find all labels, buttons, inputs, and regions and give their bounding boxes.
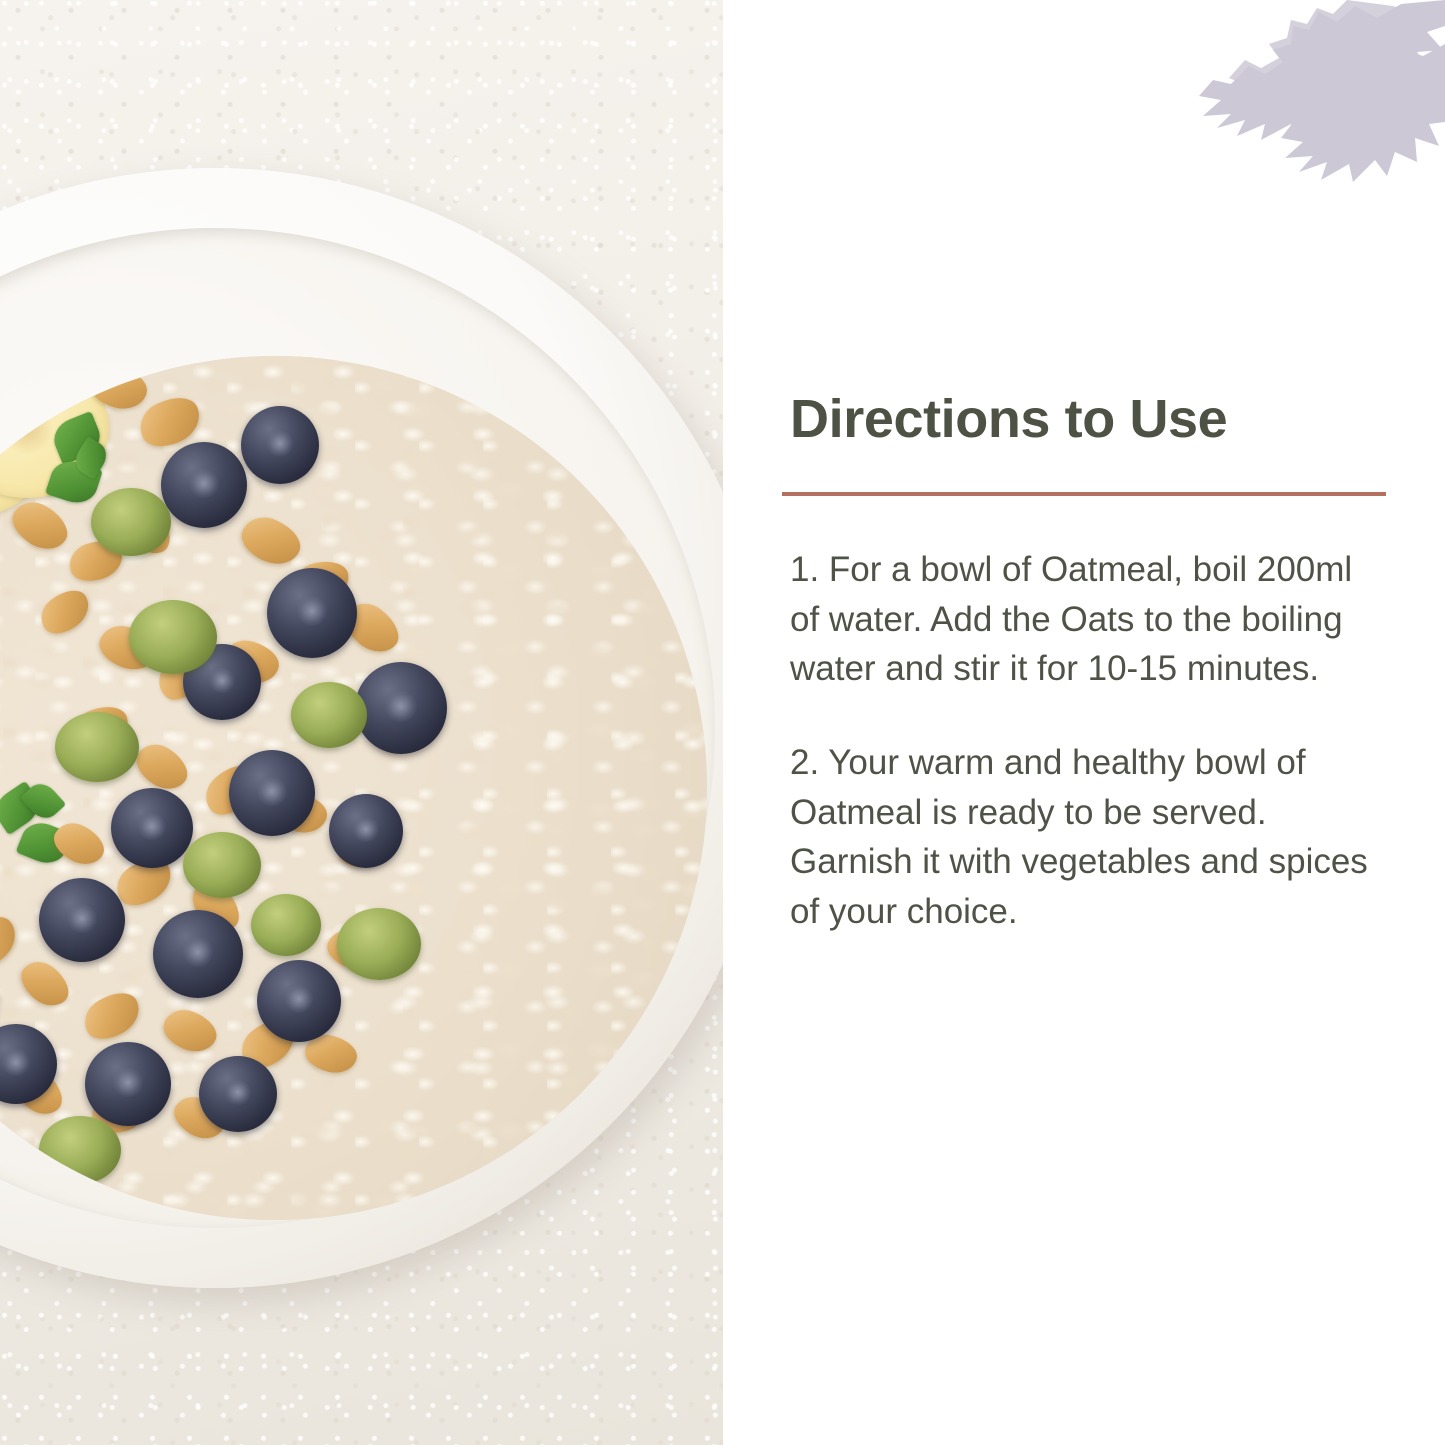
blueberry	[267, 568, 357, 658]
grape-half	[39, 1116, 121, 1184]
leaf-foliage-decoration-icon	[1187, 0, 1445, 186]
blueberry	[241, 406, 319, 484]
grape-half	[183, 832, 261, 898]
blueberry	[85, 1042, 171, 1126]
grape-half	[337, 908, 421, 980]
page-title: Directions to Use	[790, 388, 1400, 450]
blueberry	[257, 960, 341, 1042]
blueberry	[229, 750, 315, 836]
directions-step: 2. Your warm and healthy bowl of Oatmeal…	[790, 738, 1390, 937]
blueberry	[329, 794, 403, 868]
directions-step-list: 1. For a bowl of Oatmeal, boil 200ml of …	[790, 545, 1390, 937]
bowl-interior	[0, 356, 707, 1220]
directions-step: 1. For a bowl of Oatmeal, boil 200ml of …	[790, 545, 1390, 694]
blueberry	[355, 662, 447, 754]
grape-half	[129, 600, 217, 674]
grape-half	[91, 488, 171, 556]
product-directions-banner: Directions to Use 1. For a bowl of Oatme…	[0, 0, 1445, 1445]
grape-half	[251, 894, 321, 956]
bowl-outer-edge	[0, 168, 723, 1288]
blueberry	[111, 788, 193, 868]
blueberry	[39, 878, 125, 962]
blueberry	[161, 442, 247, 528]
grape-half	[291, 682, 367, 748]
title-divider	[782, 492, 1386, 496]
grape-half	[55, 712, 139, 782]
product-photo	[0, 0, 723, 1445]
bowl-rim	[0, 228, 715, 1228]
blueberry	[153, 910, 243, 998]
blueberry	[199, 1056, 277, 1132]
directions-content-panel: Directions to Use 1. For a bowl of Oatme…	[723, 0, 1445, 1445]
